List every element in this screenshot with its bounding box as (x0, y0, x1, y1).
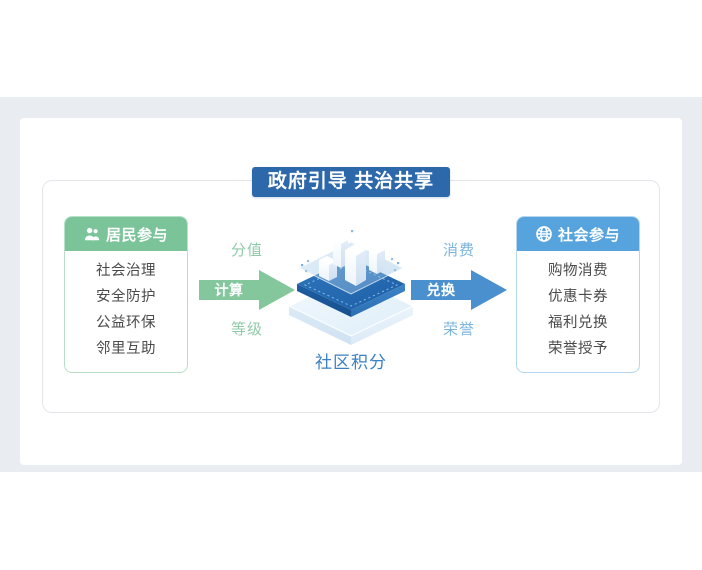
center-label: 社区积分 (281, 348, 421, 373)
list-item[interactable]: 福利兑换 (548, 311, 608, 336)
list-item[interactable]: 荣誉授予 (548, 337, 608, 362)
card-society-header: 社会参与 (517, 217, 639, 251)
isometric-city-platform-illustration (281, 218, 421, 346)
card-society: 社会参与 购物消费 优惠卡券 福利兑换 荣誉授予 (516, 216, 640, 373)
list-item[interactable]: 社会治理 (96, 259, 156, 284)
list-item[interactable]: 安全防护 (96, 285, 156, 310)
left-arrow-label: 计算 (205, 268, 253, 312)
card-society-header-label: 社会参与 (558, 224, 620, 245)
people-icon (84, 226, 100, 242)
screenshot-root: 政府引导 共治共享 居民参与 社会治理 安全防护 公益环保 邻里互助 (0, 0, 702, 570)
card-residents: 居民参与 社会治理 安全防护 公益环保 邻里互助 (64, 216, 188, 373)
list-item[interactable]: 购物消费 (548, 259, 608, 284)
card-residents-header: 居民参与 (65, 217, 187, 251)
card-society-body: 购物消费 优惠卡券 福利兑换 荣誉授予 (517, 251, 639, 372)
list-item[interactable]: 优惠卡券 (548, 285, 608, 310)
list-item[interactable]: 邻里互助 (96, 337, 156, 362)
card-residents-header-label: 居民参与 (106, 224, 168, 245)
right-arrow-label: 兑换 (417, 268, 465, 312)
card-residents-body: 社会治理 安全防护 公益环保 邻里互助 (65, 251, 187, 372)
right-arrow-shape: 兑换 (409, 268, 509, 312)
center-illustration-block: 社区积分 (281, 218, 421, 388)
list-item[interactable]: 公益环保 (96, 311, 156, 336)
globe-icon (536, 226, 552, 242)
